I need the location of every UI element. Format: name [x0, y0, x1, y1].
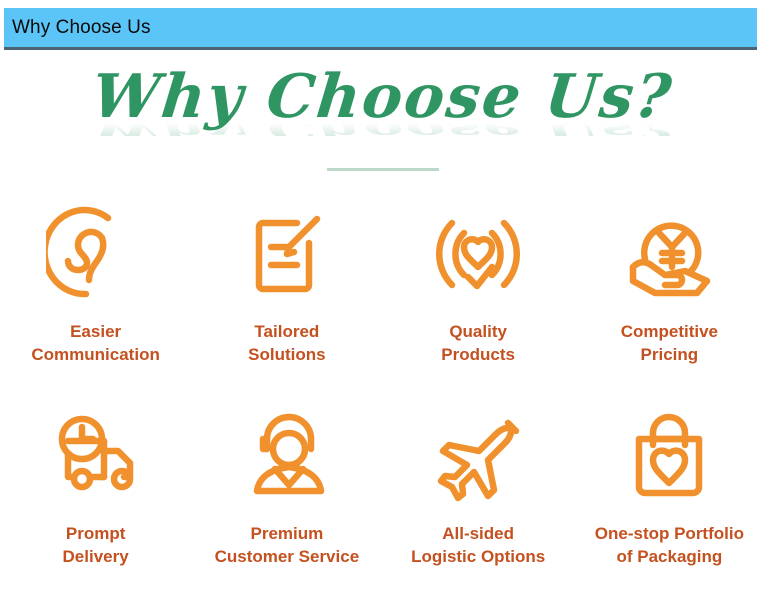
- window-title: Why Choose Us: [4, 17, 151, 39]
- feature-cell-competitive-pricing[interactable]: Competitive Pricing: [574, 196, 765, 398]
- truck-clock-icon: [46, 398, 146, 516]
- feature-label-line2: Customer Service: [215, 545, 360, 568]
- feature-label-line2: Logistic Options: [411, 545, 545, 568]
- headset-agent-icon: [237, 398, 337, 516]
- feature-label-line2: of Packaging: [595, 545, 744, 568]
- feature-label: Easier Communication: [31, 320, 159, 366]
- window-titlebar: Why Choose Us: [4, 8, 757, 50]
- feature-label-line1: Easier: [70, 322, 121, 341]
- feature-row: Prompt Delivery Premium: [0, 398, 765, 600]
- feature-row: Easier Communication Tailored So: [0, 196, 765, 398]
- feature-label: Quality Products: [441, 320, 515, 366]
- hand-yen-coin-icon: [619, 196, 719, 314]
- hero-divider: [327, 168, 439, 171]
- heart-check-signal-icon: [428, 196, 528, 314]
- feature-label: All-sided Logistic Options: [411, 522, 545, 568]
- feature-label-line1: Premium: [250, 524, 323, 543]
- feature-cell-premium-customer-service[interactable]: Premium Customer Service: [191, 398, 382, 600]
- feature-label-line1: Prompt: [66, 524, 126, 543]
- shopping-bag-heart-icon: [619, 398, 719, 516]
- feature-cell-easier-communication[interactable]: Easier Communication: [0, 196, 191, 398]
- feature-label: Prompt Delivery: [63, 522, 129, 568]
- feature-label-line1: All-sided: [442, 524, 514, 543]
- why-choose-us-page: Why Choose Us Why Choose Us? Why Choose …: [0, 0, 765, 599]
- feature-label-line2: Communication: [31, 343, 159, 366]
- ear-in-circle-icon: [46, 196, 146, 314]
- feature-label: One-stop Portfolio of Packaging: [595, 522, 744, 568]
- feature-cell-one-stop-portfolio-of-packaging[interactable]: One-stop Portfolio of Packaging: [574, 398, 765, 600]
- feature-label-line2: Delivery: [63, 545, 129, 568]
- document-pencil-icon: [237, 196, 337, 314]
- feature-cell-tailored-solutions[interactable]: Tailored Solutions: [191, 196, 382, 398]
- feature-label-line2: Solutions: [248, 343, 325, 366]
- feature-cell-all-sided-logistic-options[interactable]: All-sided Logistic Options: [383, 398, 574, 600]
- hero-title: Why Choose Us?: [0, 58, 765, 136]
- feature-cell-prompt-delivery[interactable]: Prompt Delivery: [0, 398, 191, 600]
- feature-label: Competitive Pricing: [621, 320, 718, 366]
- feature-grid: Easier Communication Tailored So: [0, 196, 765, 600]
- feature-label-line1: Competitive: [621, 322, 718, 341]
- feature-label: Tailored Solutions: [248, 320, 325, 366]
- hero-section: Why Choose Us? Why Choose Us?: [0, 58, 765, 178]
- airplane-icon: [428, 398, 528, 516]
- feature-cell-quality-products[interactable]: Quality Products: [383, 196, 574, 398]
- feature-label: Premium Customer Service: [215, 522, 360, 568]
- window-titlebar-area: Why Choose Us: [0, 0, 765, 55]
- feature-label-line2: Pricing: [621, 343, 718, 366]
- feature-label-line1: Tailored: [254, 322, 319, 341]
- feature-label-line1: Quality: [449, 322, 507, 341]
- feature-label-line2: Products: [441, 343, 515, 366]
- feature-label-line1: One-stop Portfolio: [595, 524, 744, 543]
